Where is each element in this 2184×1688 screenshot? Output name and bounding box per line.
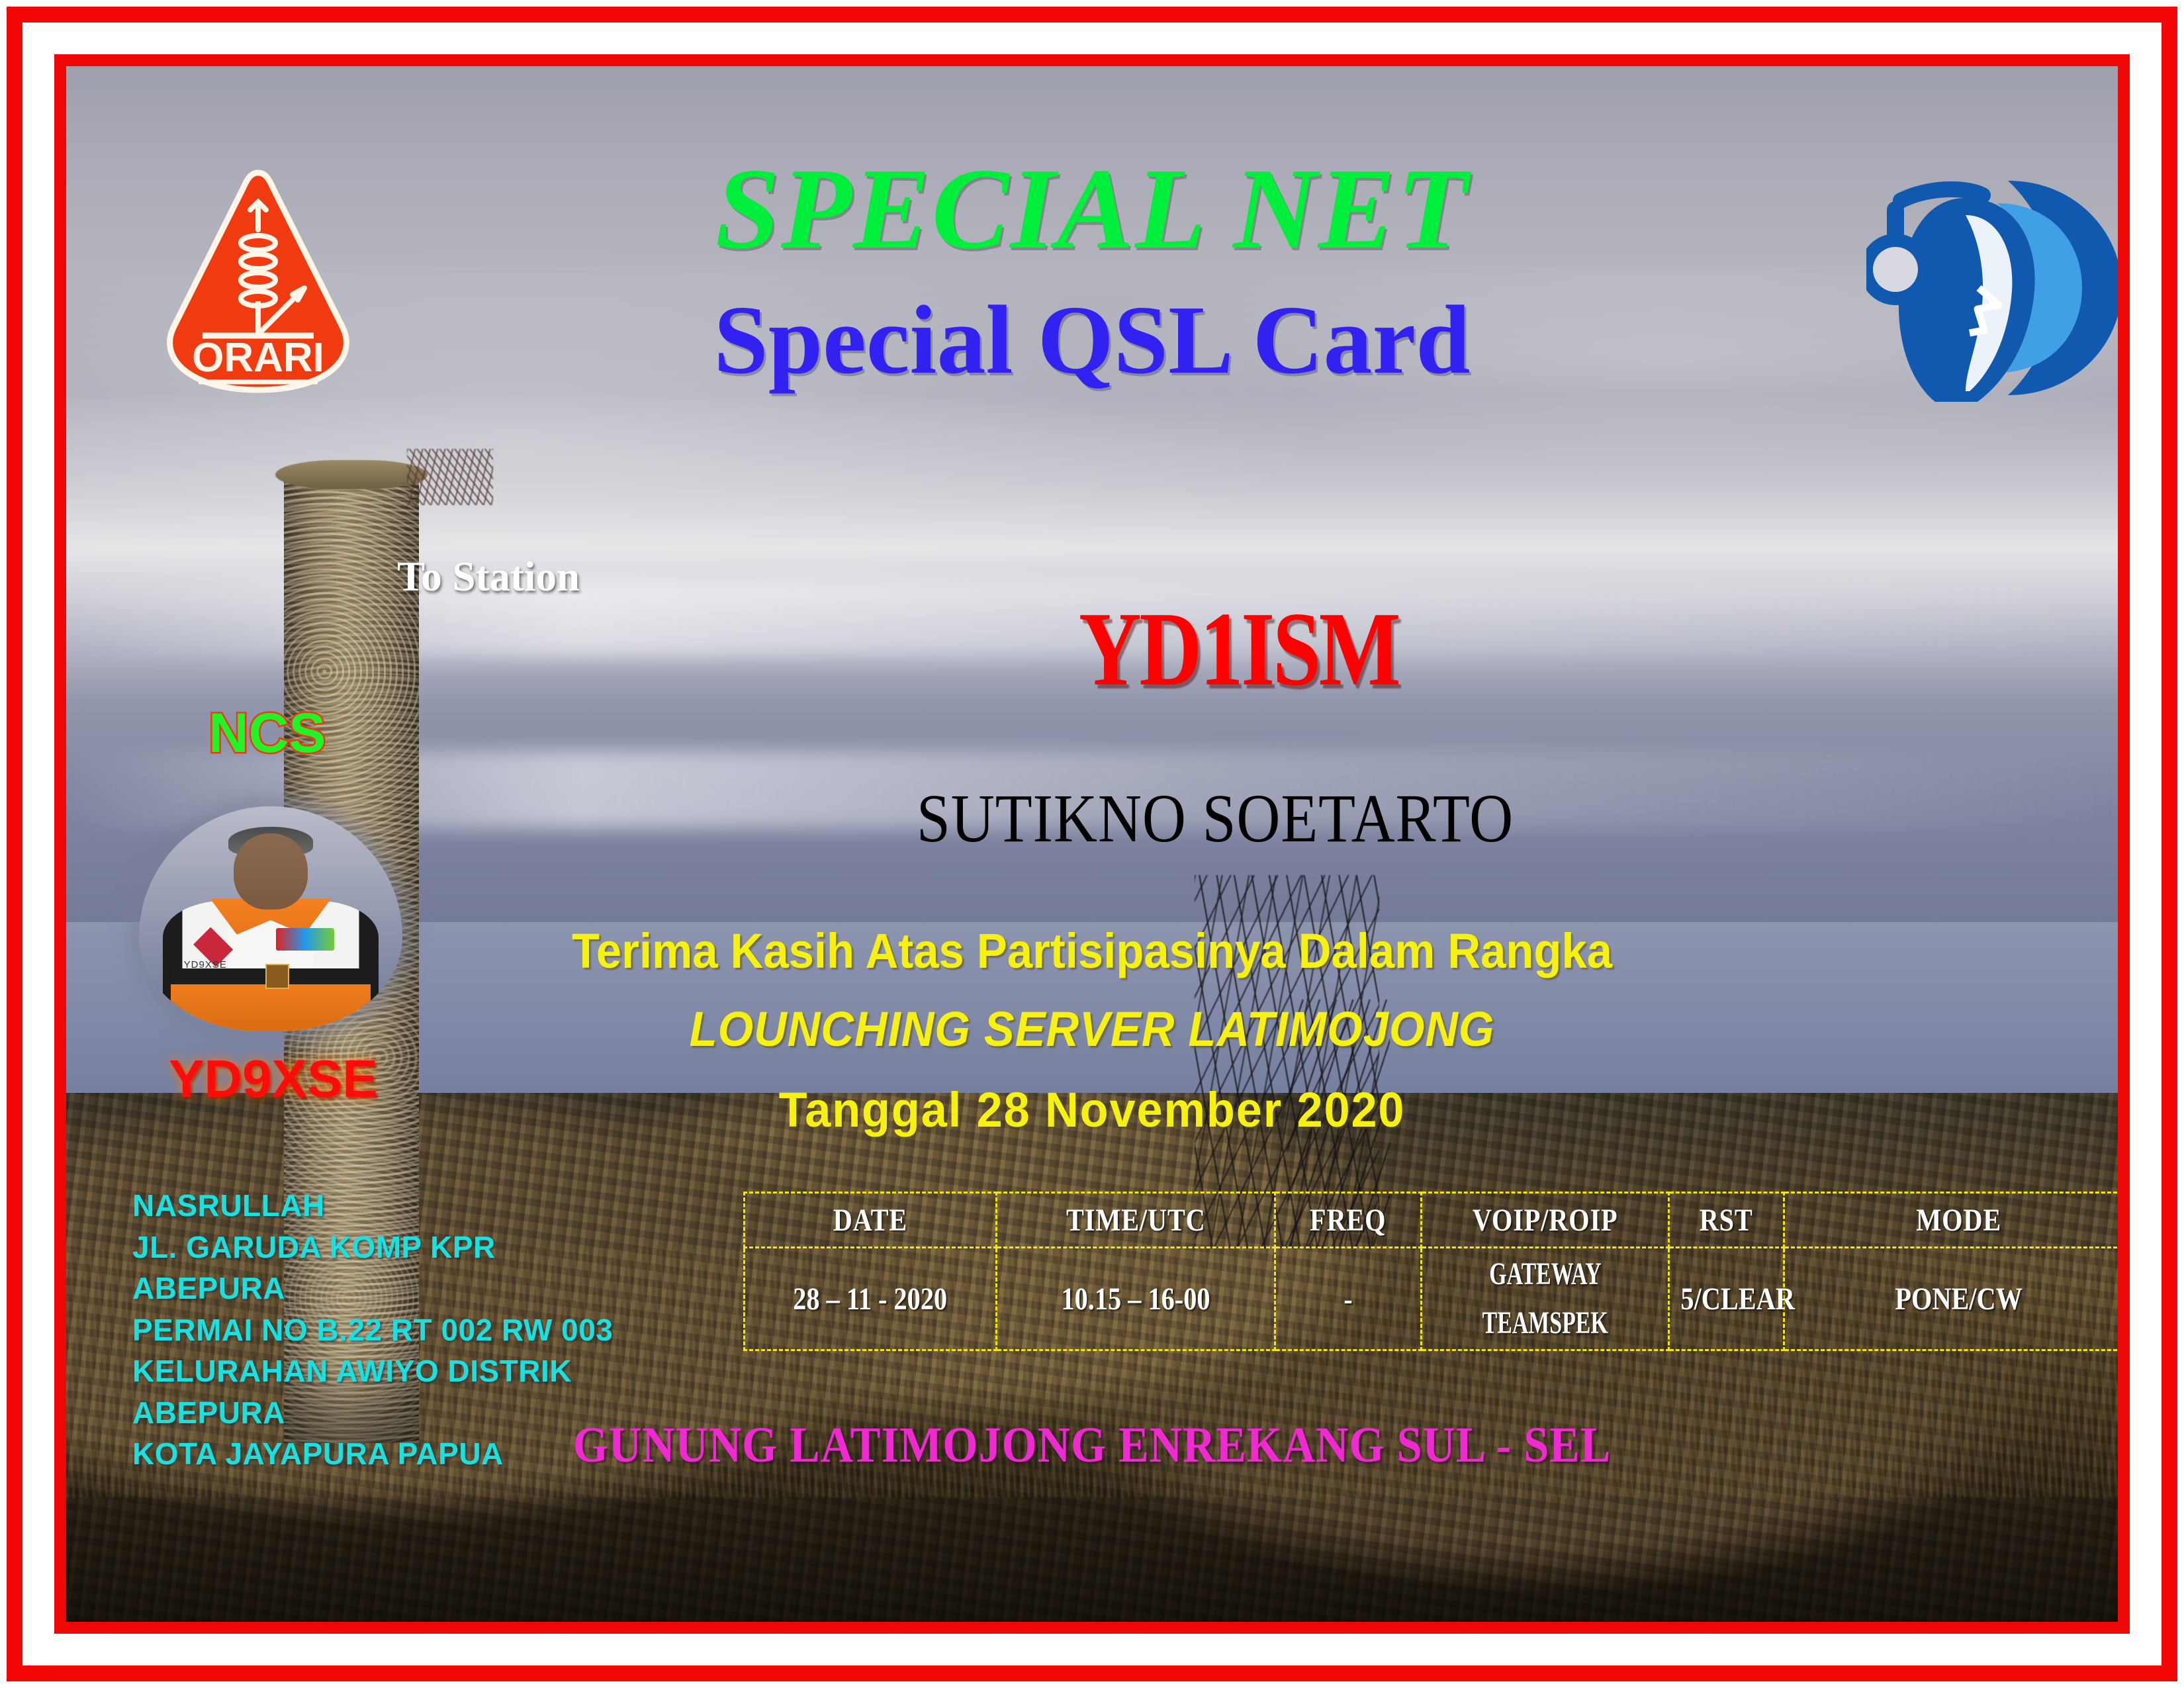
table-cell-voip-roip: GATEWAY TEAMSPEK [1422,1248,1669,1350]
orari-logo: ORARI [165,169,351,394]
recipient-callsign: YD1ISM [1079,596,1398,702]
operator-name: SUTIKNO SOETARTO [917,784,1514,853]
table-header-date: DATE [745,1193,997,1248]
table-header-mode: MODE [1784,1193,2118,1248]
photo-id-card [265,964,289,989]
photo-face [234,833,307,910]
table-cell-mode: PONE/CW [1784,1248,2118,1350]
ncs-operator-photo: YD9XSE [139,806,402,1031]
outer-red-frame: ORARI SPECIAL NET Special Q [7,7,2177,1681]
address-line-1: NASRULLAH [132,1185,613,1227]
table-cell-freq: - [1275,1248,1422,1350]
thanks-line-1: Terima Kasih Atas Partisipasinya Dalam R… [572,927,1612,976]
voip-roip-line-2: TEAMSPEK [1482,1299,1608,1348]
thanks-line-3-date: Tanggal 28 November 2020 [779,1086,1406,1135]
table-header-rst: RST [1669,1193,1784,1248]
inner-red-frame: ORARI SPECIAL NET Special Q [54,54,2130,1634]
address-line-2: JL. GARUDA KOMP KPR [132,1227,613,1268]
photo-uniform-callsign: YD9XSE [184,959,227,970]
address-line-5: KELURAHAN AWIYO DISTRIK [132,1350,613,1392]
thanks-line-2-event: LOUNCHING SERVER LATIMOJONG [690,1005,1495,1054]
table-header-freq: FREQ [1275,1193,1422,1248]
to-station-label: To Station [397,556,580,598]
address-line-4: PERMAI NO B.22 RT 002 RW 003 [132,1309,613,1351]
table-cell-rst: 5/CLEAR [1669,1248,1784,1350]
photo-orange-sash [171,984,371,1031]
table-header-time: TIME/UTC [997,1193,1275,1248]
ncs-label: NCS [208,705,326,761]
monument-plant-tuft [407,449,493,505]
location-line: GUNUNG LATIMOJONG ENREKANG SUL - SEL [573,1420,1611,1470]
qsl-card: ORARI SPECIAL NET Special Q [0,0,2184,1688]
table-cell-time: 10.15 – 16-00 [997,1248,1275,1350]
qso-details-table: DATE TIME/UTC FREQ VOIP/ROIP RST MODE 28… [743,1192,2118,1351]
table-header-voip-roip: VOIP/ROIP [1422,1193,1669,1248]
sender-address-block: NASRULLAH JL. GARUDA KOMP KPR ABEPURA PE… [132,1185,613,1475]
table-row: 28 – 11 - 2020 10.15 – 16-00 - GATEWAY T… [745,1248,2118,1350]
monument-cap [275,460,427,490]
background-photo: ORARI SPECIAL NET Special Q [66,66,2118,1622]
address-line-3: ABEPURA [132,1268,613,1309]
voip-headset-logo [1866,169,2118,407]
table-header-row: DATE TIME/UTC FREQ VOIP/ROIP RST MODE [745,1193,2118,1248]
table-cell-date: 28 – 11 - 2020 [745,1248,997,1350]
page-title-special-net: SPECIAL NET [715,151,1469,267]
address-line-6: ABEPURA [132,1392,613,1434]
ncs-callsign: YD9XSE [169,1053,378,1105]
voip-roip-line-1: GATEWAY [1489,1250,1601,1299]
address-line-7: KOTA JAYAPURA PAPUA [132,1433,613,1475]
page-subtitle-qsl-card: Special QSL Card [713,291,1470,389]
orari-logo-text: ORARI [192,335,324,381]
photo-org-logo-patch [276,928,334,951]
